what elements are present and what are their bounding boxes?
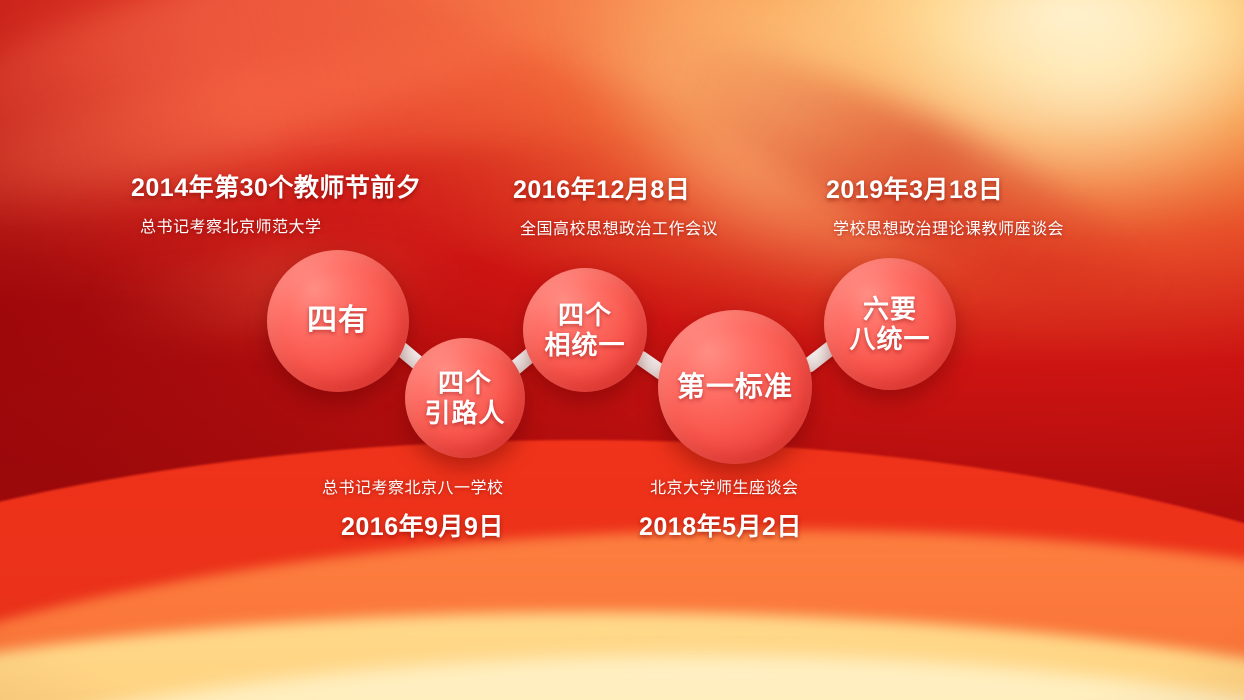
- timeline-label-5: 2019年3月18日 学校思想政治理论课教师座谈会: [826, 170, 1064, 239]
- label-4-desc: 北京大学师生座谈会: [650, 474, 802, 498]
- node-4-line-1: 第一标准: [677, 371, 793, 403]
- label-1-date: 2014年第30个教师节前夕: [131, 168, 421, 204]
- label-3-date: 2016年12月8日: [513, 170, 718, 206]
- timeline-node-5[interactable]: 六要 八统一: [824, 258, 956, 390]
- node-3-line-2: 相统一: [544, 330, 625, 360]
- timeline-label-1: 2014年第30个教师节前夕 总书记考察北京师范大学: [131, 168, 421, 237]
- label-4-date: 2018年5月2日: [639, 507, 802, 543]
- label-3-desc: 全国高校思想政治工作会议: [520, 215, 718, 239]
- node-3-line-1: 四个: [544, 300, 625, 330]
- timeline-node-4[interactable]: 第一标准: [658, 310, 812, 464]
- timeline-node-1[interactable]: 四有: [267, 250, 409, 392]
- node-2-line-1: 四个: [424, 368, 505, 398]
- timeline-node-2[interactable]: 四个 引路人: [405, 338, 525, 458]
- node-5-line-2: 八统一: [849, 324, 930, 354]
- slide-canvas: 四有 四个 引路人 四个 相统一 第一标准 六要 八统一 2014年第30个教师…: [0, 0, 1244, 700]
- timeline-label-4: 北京大学师生座谈会 2018年5月2日: [650, 474, 802, 543]
- label-1-desc: 总书记考察北京师范大学: [140, 213, 421, 237]
- label-5-desc: 学校思想政治理论课教师座谈会: [833, 215, 1064, 239]
- node-5-line-1: 六要: [849, 294, 930, 324]
- label-5-date: 2019年3月18日: [826, 170, 1064, 206]
- timeline-label-3: 2016年12月8日 全国高校思想政治工作会议: [513, 170, 718, 239]
- label-2-date: 2016年9月9日: [341, 507, 504, 543]
- node-1-line-1: 四有: [307, 304, 369, 339]
- timeline-label-2: 总书记考察北京八一学校 2016年9月9日: [322, 474, 504, 543]
- timeline-node-3[interactable]: 四个 相统一: [523, 268, 647, 392]
- node-2-line-2: 引路人: [424, 398, 505, 428]
- label-2-desc: 总书记考察北京八一学校: [322, 474, 504, 498]
